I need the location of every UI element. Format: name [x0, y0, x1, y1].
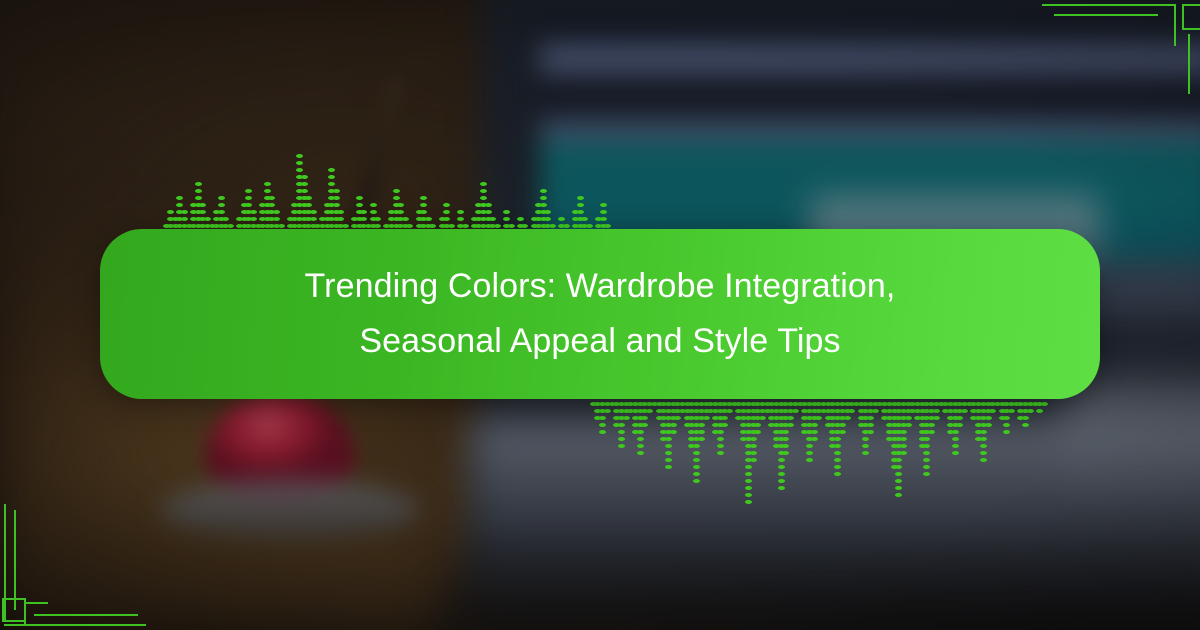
waveform-dot	[508, 224, 515, 228]
waveform-dot	[222, 217, 229, 221]
waveform-dot	[778, 465, 785, 469]
waveform-dot	[218, 203, 225, 207]
corner-line-outer-horizontal	[1042, 4, 1176, 6]
waveform-dot	[834, 465, 841, 469]
waveform-dot	[181, 217, 188, 221]
waveform-dot	[521, 224, 528, 228]
waveform-dot	[703, 416, 710, 420]
waveform-dot	[721, 423, 728, 427]
waveform-dot	[337, 217, 344, 221]
waveform-dot	[586, 224, 593, 228]
waveform-dot	[342, 224, 349, 228]
waveform-dot	[895, 486, 902, 490]
waveform-dot	[480, 182, 487, 186]
waveform-dot	[420, 196, 427, 200]
waveform-dot	[750, 437, 757, 441]
waveform-dot	[176, 203, 183, 207]
waveform-dot	[872, 409, 879, 413]
waveform-dot	[641, 423, 648, 427]
waveform-dot	[717, 430, 724, 434]
waveform-dot	[923, 437, 930, 441]
waveform-dot	[176, 196, 183, 200]
waveform-dot	[961, 409, 968, 413]
corner-line-tail-vertical	[1188, 34, 1190, 94]
waveform-dot	[305, 203, 312, 207]
waveform-bottom	[585, 392, 1055, 487]
corner-square-icon	[1182, 4, 1200, 30]
waveform-dot	[599, 416, 606, 420]
waveform-dot	[811, 437, 818, 441]
waveform-dot	[420, 210, 427, 214]
waveform-dot	[328, 182, 335, 186]
waveform-dot	[250, 210, 257, 214]
waveform-dot	[503, 210, 510, 214]
waveform-dot	[834, 444, 841, 448]
waveform-dot	[693, 479, 700, 483]
waveform-dot	[895, 458, 902, 462]
waveform-dot	[604, 224, 611, 228]
waveform-dot	[952, 430, 959, 434]
waveform-dot	[544, 217, 551, 221]
waveform-dot	[264, 182, 271, 186]
waveform-dot	[717, 444, 724, 448]
waveform-dot	[333, 203, 340, 207]
waveform-dot	[443, 203, 450, 207]
waveform-dot	[618, 437, 625, 441]
waveform-dot	[665, 451, 672, 455]
waveform-dot	[337, 210, 344, 214]
waveform-dot	[806, 458, 813, 462]
waveform-dot	[895, 472, 902, 476]
waveform-dot	[905, 416, 912, 420]
waveform-dot	[754, 430, 761, 434]
waveform-dot	[301, 175, 308, 179]
waveform-dot	[745, 479, 752, 483]
waveform-dot	[641, 416, 648, 420]
waveform-dot	[750, 458, 757, 462]
waveform-dot	[1003, 416, 1010, 420]
waveform-dot	[402, 217, 409, 221]
waveform-dot	[905, 423, 912, 427]
waveform-dot	[448, 224, 455, 228]
waveform-dot	[581, 217, 588, 221]
waveform-dot	[623, 416, 630, 420]
waveform-dot	[374, 217, 381, 221]
waveform-dot	[195, 196, 202, 200]
waveform-dot	[698, 423, 705, 427]
waveform-dot	[754, 423, 761, 427]
waveform-dot	[980, 458, 987, 462]
waveform-dot	[599, 423, 606, 427]
waveform-dot	[637, 437, 644, 441]
waveform-dot	[900, 444, 907, 448]
waveform-dot	[1022, 416, 1029, 420]
waveform-dot	[745, 486, 752, 490]
waveform-dot	[782, 437, 789, 441]
waveform-dot	[839, 430, 846, 434]
corner-square-icon	[2, 598, 26, 622]
waveform-dot	[782, 430, 789, 434]
waveform-dot	[834, 472, 841, 476]
waveform-dot	[457, 210, 464, 214]
waveform-dot	[333, 196, 340, 200]
waveform-dot	[393, 189, 400, 193]
waveform-dot	[895, 465, 902, 469]
waveform-dot	[227, 224, 234, 228]
waveform-dot	[618, 423, 625, 427]
waveform-dot	[693, 444, 700, 448]
waveform-dot	[674, 416, 681, 420]
waveform-dot	[1008, 409, 1015, 413]
corner-line-inner-vertical	[14, 510, 16, 610]
waveform-dot	[750, 444, 757, 448]
waveform-dot	[577, 196, 584, 200]
waveform-dot	[429, 224, 436, 228]
waveform-dot	[980, 451, 987, 455]
waveform-dot	[745, 465, 752, 469]
waveform-dot	[360, 217, 367, 221]
corner-line-inner-horizontal	[34, 614, 138, 616]
waveform-dot	[693, 465, 700, 469]
waveform-dot	[933, 409, 940, 413]
waveform-dot	[1003, 430, 1010, 434]
waveform-dot	[604, 409, 611, 413]
waveform-dot	[370, 203, 377, 207]
waveform-dot	[1022, 423, 1029, 427]
waveform-dot	[480, 189, 487, 193]
waveform-dot	[792, 409, 799, 413]
waveform-dot	[778, 472, 785, 476]
waveform-dot	[356, 203, 363, 207]
waveform-dot	[296, 168, 303, 172]
waveform-dot	[199, 203, 206, 207]
waveform-dot	[815, 416, 822, 420]
waveform-dot	[457, 217, 464, 221]
waveform-dot	[693, 451, 700, 455]
waveform-dot	[745, 493, 752, 497]
waveform-dot	[577, 210, 584, 214]
waveform-dot	[268, 203, 275, 207]
waveform-dot	[867, 416, 874, 420]
corner-line-outer-vertical	[1174, 4, 1176, 46]
title-banner: Trending Colors: Wardrobe Integration, S…	[100, 229, 1100, 399]
waveform-dot	[296, 161, 303, 165]
waveform-dot	[787, 423, 794, 427]
waveform-dot	[782, 444, 789, 448]
waveform-dot	[834, 451, 841, 455]
waveform-dot	[923, 444, 930, 448]
waveform-dot	[370, 210, 377, 214]
waveform-dot	[503, 217, 510, 221]
waveform-dot	[600, 203, 607, 207]
waveform-dot	[1027, 409, 1034, 413]
waveform-dot	[693, 458, 700, 462]
waveform-dot	[693, 472, 700, 476]
waveform-dot	[1036, 409, 1043, 413]
waveform-dot	[301, 189, 308, 193]
waveform-dot	[195, 189, 202, 193]
waveform-dot	[328, 168, 335, 172]
waveform-dot	[980, 430, 987, 434]
waveform-dot	[199, 210, 206, 214]
waveform-dot	[328, 175, 335, 179]
waveform-dot	[406, 224, 413, 228]
waveform-dot	[862, 451, 869, 455]
waveform-dot	[305, 196, 312, 200]
waveform-dot	[245, 196, 252, 200]
waveform-dot	[900, 430, 907, 434]
waveform-dot	[985, 423, 992, 427]
waveform-dot	[301, 182, 308, 186]
waveform-dot	[862, 444, 869, 448]
waveform-dot	[750, 451, 757, 455]
banner-image: Trending Colors: Wardrobe Integration, S…	[0, 0, 1200, 630]
waveform-dot	[952, 444, 959, 448]
waveform-dot	[494, 224, 501, 228]
waveform-dot	[273, 210, 280, 214]
page-title: Trending Colors: Wardrobe Integration, S…	[170, 259, 1030, 369]
waveform-dot	[517, 217, 524, 221]
waveform-dot	[862, 437, 869, 441]
waveform-dot	[952, 437, 959, 441]
waveform-dot	[726, 409, 733, 413]
waveform-dot	[956, 416, 963, 420]
waveform-dot	[844, 416, 851, 420]
waveform-dot	[811, 430, 818, 434]
waveform-dot	[480, 196, 487, 200]
waveform-dot	[745, 472, 752, 476]
waveform-dot	[985, 416, 992, 420]
waveform-dot	[923, 458, 930, 462]
waveform-dot	[540, 196, 547, 200]
waveform-dot	[540, 189, 547, 193]
waveform-dot	[245, 189, 252, 193]
waveform-dot	[665, 465, 672, 469]
waveform-dot	[245, 203, 252, 207]
waveform-dot	[933, 416, 940, 420]
waveform-dot	[462, 224, 469, 228]
waveform-dot	[397, 210, 404, 214]
waveform-dot	[665, 437, 672, 441]
waveform-dot	[721, 416, 728, 420]
waveform-dot	[637, 444, 644, 448]
waveform-dot	[848, 409, 855, 413]
waveform-dot	[980, 444, 987, 448]
waveform-dot	[374, 224, 381, 228]
waveform-dot	[900, 437, 907, 441]
waveform-dot	[1003, 423, 1010, 427]
waveform-dot	[952, 451, 959, 455]
waveform-dot	[618, 430, 625, 434]
waveform-dot	[420, 203, 427, 207]
waveform-dot	[637, 451, 644, 455]
waveform-dot	[310, 210, 317, 214]
waveform-dot	[268, 196, 275, 200]
waveform-dot	[759, 416, 766, 420]
waveform-dot	[670, 430, 677, 434]
waveform-dot	[834, 437, 841, 441]
waveform-dot	[195, 182, 202, 186]
waveform-dot	[563, 224, 570, 228]
waveform-dot	[425, 217, 432, 221]
waveform-dot	[778, 479, 785, 483]
corner-line-outer-horizontal	[4, 624, 146, 626]
corner-bracket-bottom-left	[0, 490, 170, 630]
waveform-dot	[278, 224, 285, 228]
waveform-dot	[549, 224, 556, 228]
waveform-dot	[782, 451, 789, 455]
waveform-dot	[296, 154, 303, 158]
waveform-dot	[811, 423, 818, 427]
waveform-dot	[637, 430, 644, 434]
waveform-dot	[923, 451, 930, 455]
waveform-dot	[806, 444, 813, 448]
waveform-dot	[485, 210, 492, 214]
waveform-dot	[923, 465, 930, 469]
corner-line-elbow-horizontal	[24, 602, 48, 604]
waveform-dot	[558, 217, 565, 221]
waveform-dot	[600, 210, 607, 214]
waveform-dot	[443, 217, 450, 221]
waveform-dot	[264, 189, 271, 193]
waveform-dot	[356, 196, 363, 200]
waveform-dot	[778, 486, 785, 490]
waveform-dot	[485, 203, 492, 207]
waveform-dot	[393, 196, 400, 200]
waveform-dot	[1041, 402, 1048, 406]
waveform-dot	[717, 437, 724, 441]
waveform-dot	[204, 217, 211, 221]
waveform-dot	[928, 430, 935, 434]
waveform-dot	[717, 451, 724, 455]
waveform-dot	[360, 210, 367, 214]
waveform-dot	[600, 217, 607, 221]
waveform-dot	[698, 430, 705, 434]
waveform-dot	[333, 189, 340, 193]
waveform-dot	[745, 500, 752, 504]
corner-bracket-top-right	[1030, 0, 1200, 110]
waveform-dot	[989, 409, 996, 413]
waveform-dot	[489, 217, 496, 221]
waveform-dot	[646, 409, 653, 413]
corner-line-inner-horizontal	[1054, 14, 1158, 16]
waveform-dot	[250, 217, 257, 221]
waveform-dot	[778, 458, 785, 462]
waveform-dot	[670, 423, 677, 427]
waveform-dot	[980, 437, 987, 441]
waveform-dot	[787, 416, 794, 420]
waveform-dot	[577, 203, 584, 207]
waveform-dot	[618, 444, 625, 448]
waveform-dot	[665, 444, 672, 448]
waveform-dot	[900, 451, 907, 455]
waveform-dot	[181, 210, 188, 214]
waveform-dot	[956, 423, 963, 427]
waveform-dot	[895, 493, 902, 497]
waveform-dot	[397, 203, 404, 207]
waveform-dot	[540, 203, 547, 207]
waveform-dot	[867, 430, 874, 434]
waveform-dot	[665, 458, 672, 462]
waveform-dot	[273, 217, 280, 221]
waveform-dot	[599, 430, 606, 434]
waveform-dot	[443, 210, 450, 214]
waveform-dot	[928, 423, 935, 427]
waveform-dot	[544, 210, 551, 214]
waveform-dot	[923, 472, 930, 476]
waveform-dot	[167, 210, 174, 214]
waveform-dot	[698, 437, 705, 441]
waveform-dot	[895, 479, 902, 483]
waveform-dot	[839, 423, 846, 427]
waveform-dot	[218, 196, 225, 200]
waveform-dot	[218, 210, 225, 214]
waveform-dot	[806, 451, 813, 455]
waveform-dot	[834, 458, 841, 462]
waveform-dot	[310, 217, 317, 221]
waveform-dot	[867, 423, 874, 427]
